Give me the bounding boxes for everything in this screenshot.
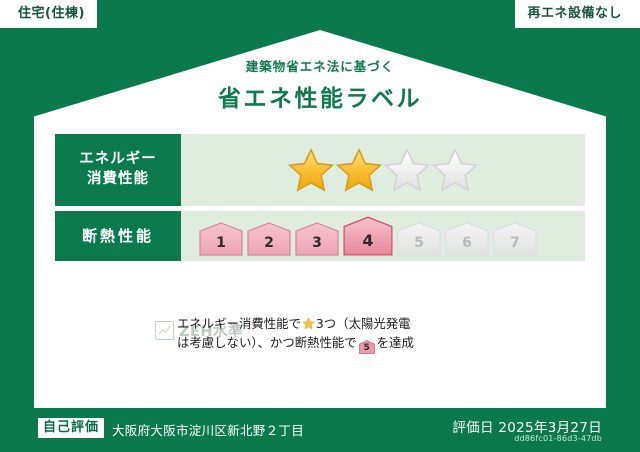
insulation-performance-row: 断熱性能 1234567 [55, 211, 585, 261]
insulation-level-scale: 1234567 [199, 216, 537, 256]
insulation-level-value: 1 [216, 235, 226, 256]
insulation-level-6: 6 [445, 222, 489, 256]
corner-tag-building-type: 住宅(住棟) [0, 0, 97, 28]
star-filled-icon [288, 147, 334, 193]
insulation-level-3: 3 [295, 222, 339, 256]
insulation-level-value: 7 [510, 235, 520, 256]
star-empty-icon [384, 147, 430, 193]
insulation-level-2: 2 [247, 222, 291, 256]
insulation-level-value: 5 [414, 235, 424, 256]
star-icon [302, 317, 315, 330]
star-empty-icon [432, 147, 478, 193]
zeh-desc-line1-a: エネルギー消費性能で [177, 316, 301, 331]
insulation-level-7: 7 [493, 222, 537, 256]
self-evaluation-badge: 自己評価 [38, 418, 104, 438]
zeh-description: エネルギー消費性能で3つ（太陽光発電 は考慮しない）、かつ断熱性能で5を達成 [177, 312, 585, 354]
evaluation-id: dd86fc01-86d3-47db [514, 434, 602, 443]
corner-tag-renewable-equipment: 再エネ設備なし [515, 0, 640, 28]
insulation-level-4: 4 [343, 216, 393, 256]
chart-line-icon [155, 321, 174, 340]
zeh-desc-line2-badge: 5 [359, 340, 375, 357]
energy-performance-value [181, 134, 585, 206]
title-subtitle: 建築物省エネ法に基づく [0, 56, 640, 75]
energy-performance-label: エネルギー 消費性能 [55, 134, 181, 206]
zeh-badge: ZEH水準 [55, 312, 177, 341]
zeh-desc-line2-a: は考慮しない）、かつ断熱性能で [177, 335, 357, 350]
property-address: 大阪府大阪市淀川区新北野２丁目 [112, 420, 304, 439]
zeh-desc-line1-b: 3つ（太陽光発電 [316, 316, 411, 331]
energy-performance-row: エネルギー 消費性能 [55, 134, 585, 206]
footer: 自己評価 大阪府大阪市淀川区新北野２丁目 評価日 2025年3月27日 dd86… [0, 406, 640, 452]
insulation-level-badge-inline: 5 [359, 340, 375, 354]
star-rating [288, 147, 478, 193]
insulation-performance-label: 断熱性能 [55, 211, 181, 261]
insulation-level-1: 1 [199, 222, 243, 256]
insulation-label-text: 断熱性能 [82, 226, 154, 246]
page-title: 建築物省エネ法に基づく 省エネ性能ラベル [0, 56, 640, 113]
zeh-section: ZEH水準 エネルギー消費性能で3つ（太陽光発電 は考慮しない）、かつ断熱性能で… [55, 312, 585, 354]
insulation-level-5: 5 [397, 222, 441, 256]
insulation-level-value: 2 [264, 235, 274, 256]
footer-divider [34, 406, 606, 408]
insulation-level-value: 6 [462, 235, 472, 256]
insulation-performance-value: 1234567 [181, 211, 585, 261]
energy-label-line1: エネルギー [79, 150, 157, 170]
insulation-level-value: 4 [362, 231, 373, 256]
zeh-desc-line2-b: を達成 [377, 335, 414, 350]
rating-rows: エネルギー 消費性能 断熱性能 1234567 [55, 134, 585, 266]
insulation-level-value: 3 [312, 235, 322, 256]
star-filled-icon [336, 147, 382, 193]
evaluation-date: 評価日 2025年3月27日 [452, 416, 602, 436]
energy-label-line2: 消費性能 [87, 170, 149, 190]
title-main: 省エネ性能ラベル [0, 79, 640, 113]
